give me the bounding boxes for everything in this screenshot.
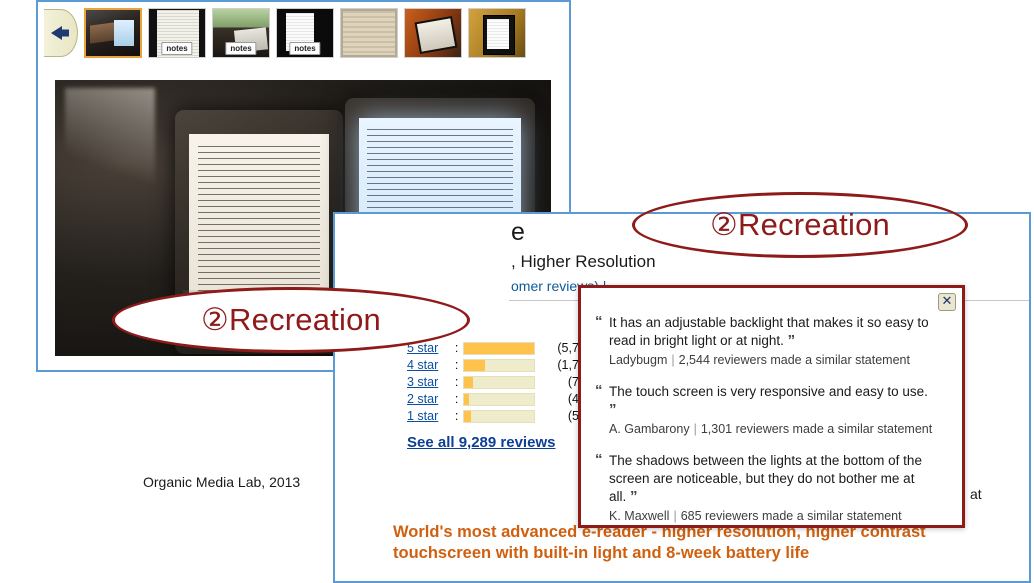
rating-bar-4 [463, 359, 535, 372]
quote-meta-1: Ladybugm|2,544 reviewers made a similar … [595, 353, 946, 367]
separator: | [673, 509, 676, 523]
thumbnail-image [341, 9, 397, 57]
rating-label-2[interactable]: 2 star [407, 392, 455, 406]
quote-meta-3: K. Maxwell|685 reviewers made a similar … [595, 509, 946, 523]
quote-item-1: “It has an adjustable backlight that mak… [595, 314, 946, 367]
product-subtitle: , Higher Resolution [511, 252, 656, 272]
rating-bar-fill [464, 360, 485, 371]
thumbnail-6[interactable] [404, 8, 462, 58]
close-icon[interactable]: ✕ [938, 293, 956, 311]
thumbnail-7[interactable] [468, 8, 526, 58]
quote-similar-1: 2,544 reviewers made a similar statement [679, 353, 910, 367]
lamp-glow [65, 88, 155, 198]
quote-text-3: “The shadows between the lights at the b… [595, 452, 935, 506]
notes-badge: notes [161, 42, 192, 55]
quote-meta-2: A. Gambarony|1,301 reviewers made a simi… [595, 422, 946, 436]
quote-similar-3: 685 reviewers made a similar statement [681, 509, 902, 523]
annotation-recreation-right: ②Recreation [632, 192, 968, 258]
thumbnail-image [405, 9, 461, 57]
notes-badge: notes [289, 42, 320, 55]
colon: : [455, 358, 458, 372]
rating-bar-fill [464, 343, 534, 354]
rating-bar-3 [463, 376, 535, 389]
thumbnail-4[interactable]: notes [276, 8, 334, 58]
rating-label-4[interactable]: 4 star [407, 358, 455, 372]
rating-row-2[interactable]: 2 star : (436) [407, 391, 597, 407]
annotation-recreation-left: ②Recreation [112, 287, 470, 353]
rating-label-1[interactable]: 1 star [407, 409, 455, 423]
promo-banner-line2: touchscreen with built-in light and 8-we… [393, 543, 1031, 564]
separator: | [671, 353, 674, 367]
quote-author-1: Ladybugm [609, 353, 667, 367]
thumbnail-image [469, 9, 525, 57]
quote-author-3: K. Maxwell [609, 509, 669, 523]
slide-caption: Organic Media Lab, 2013 [143, 474, 300, 490]
rating-bar-fill [464, 394, 469, 405]
colon: : [455, 409, 458, 423]
back-arrow-icon[interactable] [44, 9, 78, 57]
promo-banner: World's most advanced e-reader - higher … [393, 522, 1031, 564]
colon: : [455, 375, 458, 389]
open-quote-icon: “ [595, 313, 603, 331]
occluded-text: at [970, 486, 982, 502]
rating-row-5[interactable]: 5 star : (5,794) [407, 340, 597, 356]
review-quotes-popup: ✕ “It has an adjustable backlight that m… [578, 285, 965, 528]
quote-similar-2: 1,301 reviewers made a similar statement [701, 422, 932, 436]
thumbnail-strip: notes notes notes [38, 2, 569, 64]
quote-author-2: A. Gambarony [609, 422, 690, 436]
rating-row-1[interactable]: 1 star : (540) [407, 408, 597, 424]
slide-canvas: notes notes notes [0, 0, 1034, 583]
close-quote-icon: ” [609, 401, 617, 418]
close-quote-icon: ” [630, 488, 638, 505]
rating-row-4[interactable]: 4 star : (1,749) [407, 357, 597, 373]
product-title: e [511, 218, 525, 247]
quote-item-2: “The touch screen is very responsive and… [595, 383, 946, 436]
rating-bar-1 [463, 410, 535, 423]
rating-bar-2 [463, 393, 535, 406]
rating-histogram: 5 star : (5,794) 4 star : (1,749) 3 star… [407, 340, 597, 425]
thumbnail-5[interactable] [340, 8, 398, 58]
colon: : [455, 341, 458, 355]
thumbnail-2[interactable]: notes [148, 8, 206, 58]
open-quote-icon: “ [595, 382, 603, 400]
quote-item-3: “The shadows between the lights at the b… [595, 452, 946, 523]
notes-badge: notes [225, 42, 256, 55]
thumbnail-image [86, 10, 140, 56]
close-quote-icon: ” [788, 332, 796, 349]
quote-body: It has an adjustable backlight that make… [609, 315, 929, 348]
quote-body: The shadows between the lights at the bo… [609, 453, 922, 504]
thumbnail-1[interactable] [84, 8, 142, 58]
open-quote-icon: “ [595, 451, 603, 469]
colon: : [455, 392, 458, 406]
rating-bar-fill [464, 411, 470, 422]
rating-bar-5 [463, 342, 535, 355]
separator: | [694, 422, 697, 436]
rating-label-3[interactable]: 3 star [407, 375, 455, 389]
rating-bar-fill [464, 377, 473, 388]
rating-row-3[interactable]: 3 star : (770) [407, 374, 597, 390]
quote-body: The touch screen is very responsive and … [609, 384, 928, 399]
see-all-reviews-link[interactable]: See all 9,289 reviews [407, 434, 555, 451]
thumbnail-3[interactable]: notes [212, 8, 270, 58]
quote-text-1: “It has an adjustable backlight that mak… [595, 314, 935, 350]
quote-text-2: “The touch screen is very responsive and… [595, 383, 935, 419]
